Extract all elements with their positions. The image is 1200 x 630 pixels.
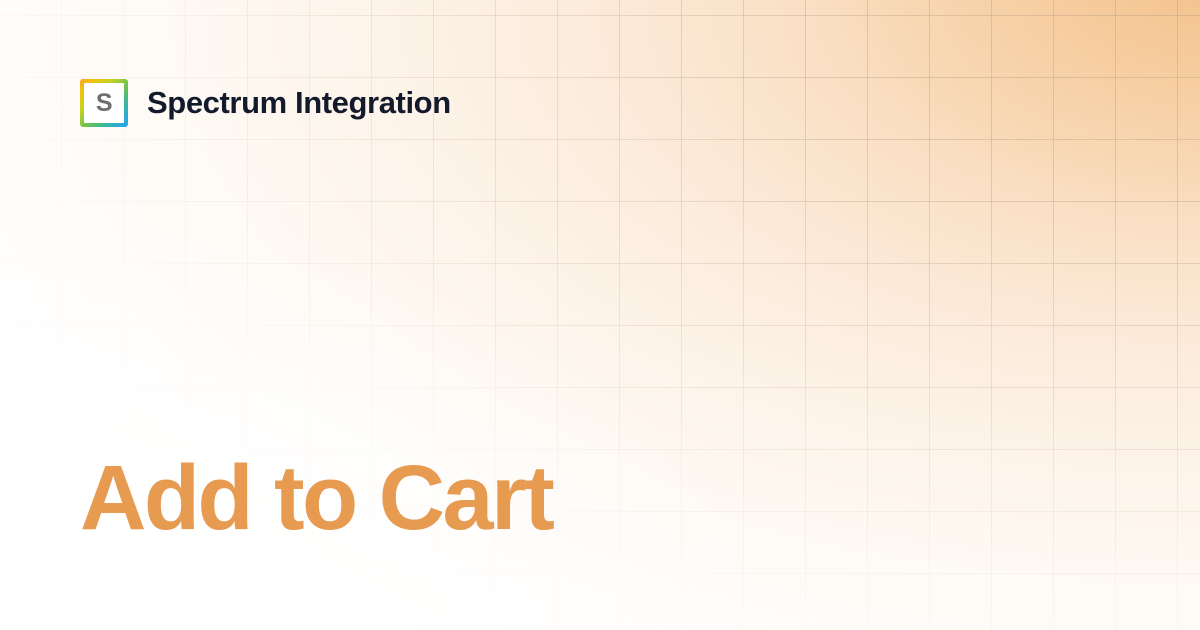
og-share-card: S Spectrum Integration Add to Cart [0, 0, 1200, 630]
logo-letter: S [96, 91, 112, 116]
page-title: Add to Cart [80, 452, 552, 544]
card-content: S Spectrum Integration Add to Cart [0, 0, 1200, 630]
brand-name: Spectrum Integration [147, 85, 451, 121]
logo-inner-plate: S [84, 83, 124, 123]
brand-lockup: S Spectrum Integration [80, 79, 451, 127]
spectrum-logo-icon: S [80, 79, 128, 127]
